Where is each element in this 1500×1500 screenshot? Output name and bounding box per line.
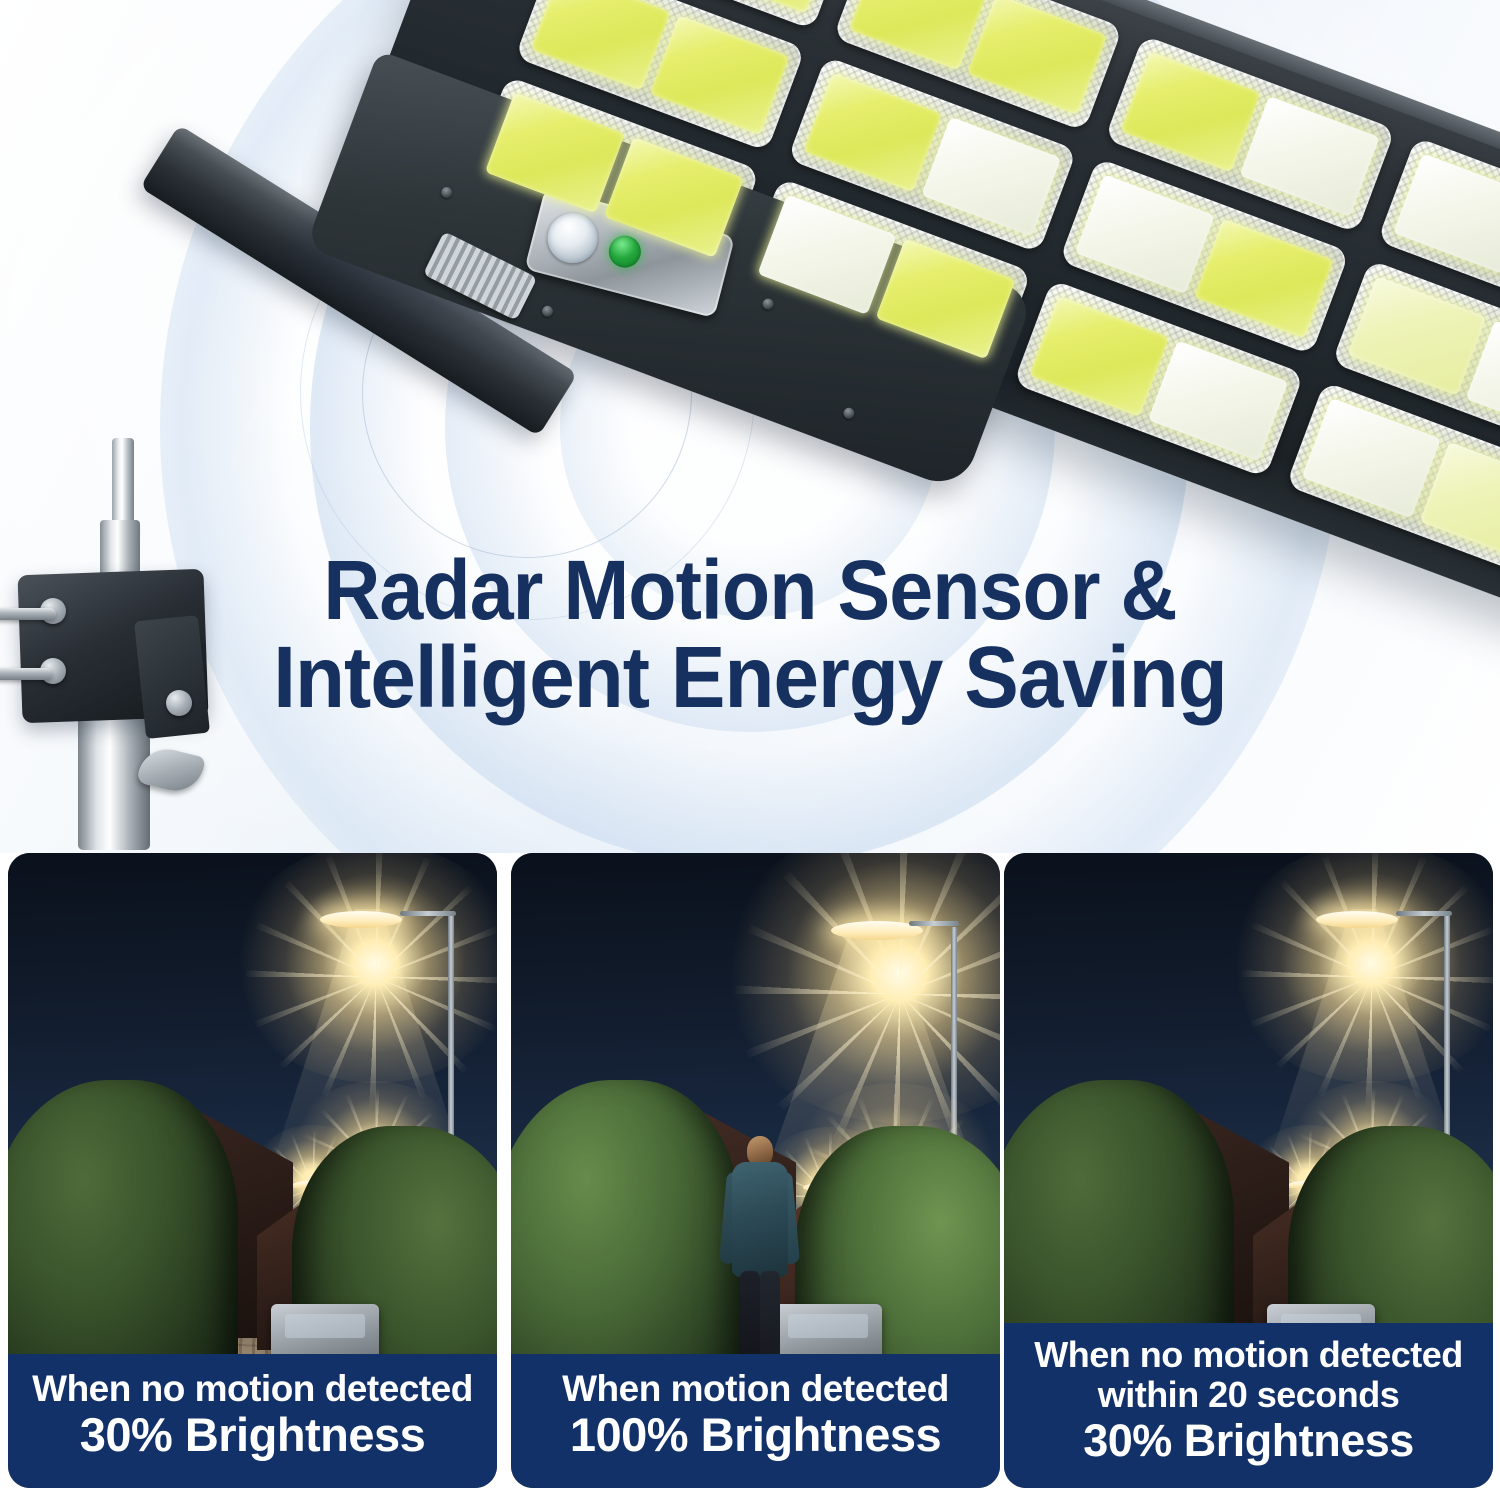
brightness-mode-panels: When no motion detected 30% Brightness [0,853,1500,1500]
panel-caption: When no motion detected within 20 second… [1004,1323,1493,1488]
panel-caption: When motion detected 100% Brightness [511,1354,1000,1488]
headline: Radar Motion Sensor & Intelligent Energy… [0,546,1500,722]
headline-line-1: Radar Motion Sensor & [45,546,1455,634]
caption-line: within 20 seconds [1014,1375,1483,1415]
headline-line-2: Intelligent Energy Saving [45,634,1455,722]
panel-caption: When no motion detected 30% Brightness [8,1354,497,1488]
street-lamp-arm-main [400,911,456,916]
motion-sensor-dome-icon [542,208,603,269]
lamp-starburst [1242,853,1493,1107]
caption-line: When motion detected [521,1368,990,1409]
street-lamp-arm-main [909,921,959,926]
street-lamp-head-main [320,911,402,928]
caption-line: When no motion detected [1014,1335,1483,1375]
street-lamp-head-main [1316,911,1398,928]
panel-motion-detected: When motion detected 100% Brightness [511,853,1000,1488]
panel-no-motion: When no motion detected 30% Brightness [8,853,497,1488]
caption-line: When no motion detected [18,1368,487,1409]
caption-line: 100% Brightness [521,1409,990,1462]
caption-line: 30% Brightness [18,1409,487,1462]
lamp-starburst [246,853,497,1107]
panel-no-motion-timeout: When no motion detected within 20 second… [1004,853,1493,1488]
caption-line: 30% Brightness [1014,1416,1483,1466]
status-indicator-led [605,232,644,271]
street-lamp-arm-main [1396,911,1452,916]
product-hero-section: Radar Motion Sensor & Intelligent Energy… [0,0,1500,853]
person-torso [732,1162,788,1277]
